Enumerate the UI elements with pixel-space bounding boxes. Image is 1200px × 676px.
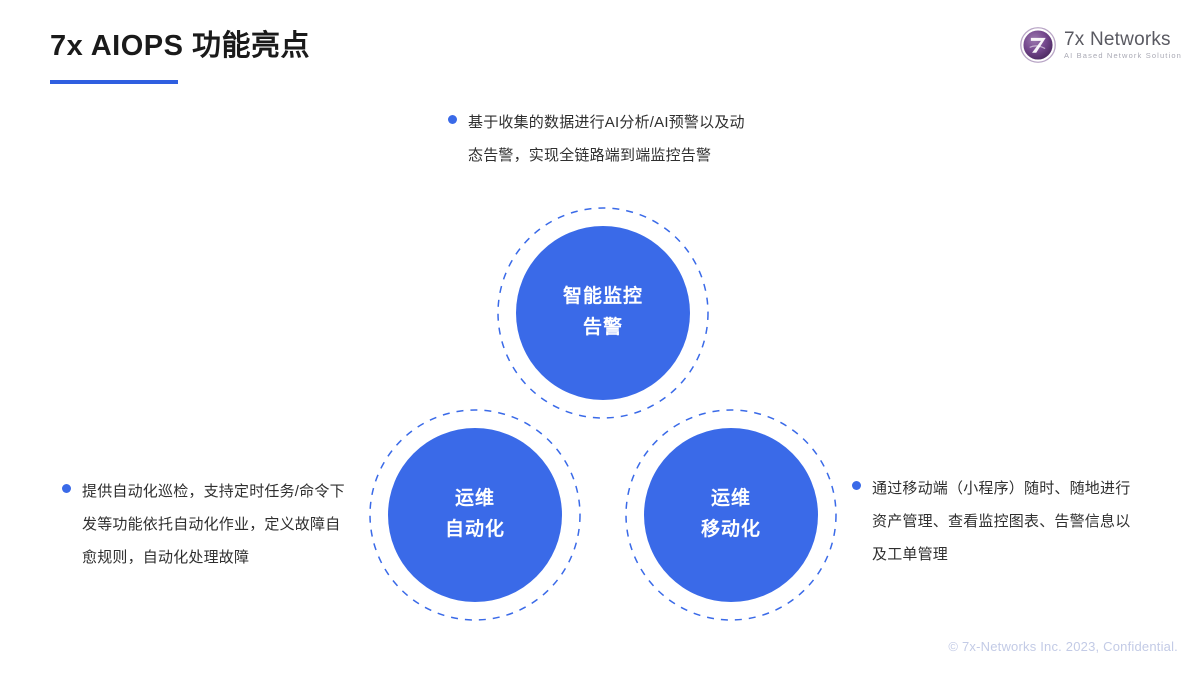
callout-right: 通过移动端（小程序）随时、随地进行资产管理、查看监控图表、告警信息以及工单管理 xyxy=(852,472,1142,571)
footer-copyright: © 7x-Networks Inc. 2023, Confidential. xyxy=(948,639,1178,654)
bullet-dot-icon xyxy=(852,481,861,490)
diagram-node-ops-mobility[interactable]: 运维 移动化 xyxy=(644,428,818,602)
diagram-node-ops-automation[interactable]: 运维 自动化 xyxy=(388,428,562,602)
title-underline-rule xyxy=(50,80,178,84)
node-label-line1: 智能监控 xyxy=(563,282,643,313)
node-label-line2: 自动化 xyxy=(445,515,505,546)
bullet-dot-icon xyxy=(62,484,71,493)
brand-logo: 7x Networks AI Based Network Solution xyxy=(1019,26,1182,64)
node-label-line2: 告警 xyxy=(583,313,623,344)
slide-canvas: 7x AIOPS 功能亮点 7x Networks AI Based Netwo… xyxy=(0,0,1200,676)
page-title: 7x AIOPS 功能亮点 xyxy=(50,22,310,64)
callout-top: 基于收集的数据进行AI分析/AI预警以及动态告警，实现全链路端到端监控告警 xyxy=(448,106,758,172)
logo-text-block: 7x Networks AI Based Network Solution xyxy=(1064,30,1182,60)
logo-company-name: 7x Networks xyxy=(1064,30,1182,49)
logo-tagline: AI Based Network Solution xyxy=(1064,52,1182,60)
bullet-dot-icon xyxy=(448,115,457,124)
callout-right-text: 通过移动端（小程序）随时、随地进行资产管理、查看监控图表、告警信息以及工单管理 xyxy=(872,472,1142,571)
node-label-line1: 运维 xyxy=(711,484,751,515)
diagram-node-intelligent-monitoring-alarm[interactable]: 智能监控 告警 xyxy=(516,226,690,400)
callout-top-text: 基于收集的数据进行AI分析/AI预警以及动态告警，实现全链路端到端监控告警 xyxy=(468,106,758,172)
node-label-line1: 运维 xyxy=(455,484,495,515)
node-label-line2: 移动化 xyxy=(701,515,761,546)
7x-networks-logo-icon xyxy=(1019,26,1057,64)
callout-left: 提供自动化巡检，支持定时任务/命令下发等功能依托自动化作业，定义故障自愈规则，自… xyxy=(62,475,354,574)
callout-left-text: 提供自动化巡检，支持定时任务/命令下发等功能依托自动化作业，定义故障自愈规则，自… xyxy=(82,475,354,574)
